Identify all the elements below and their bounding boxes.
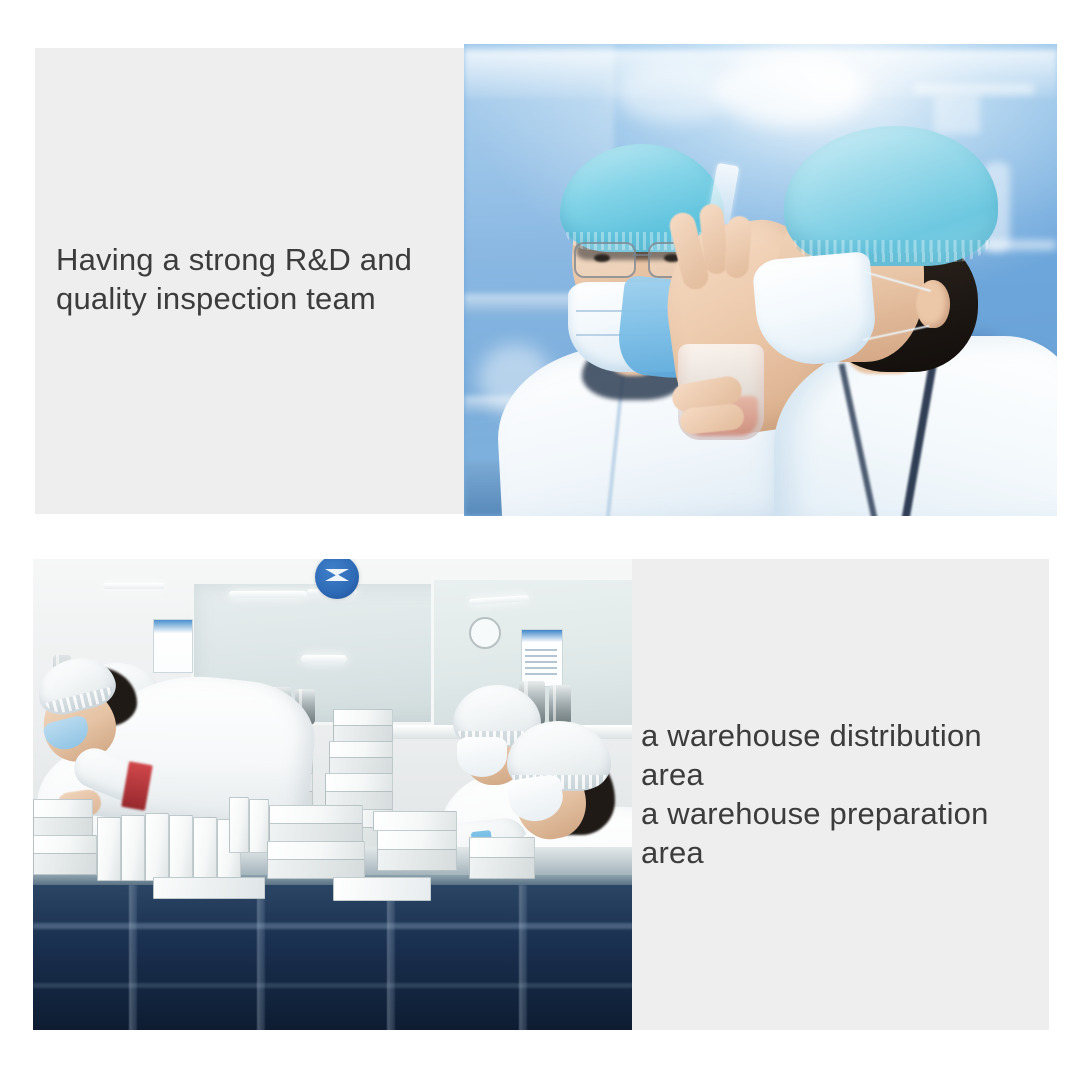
table-leg-3 <box>387 885 395 1030</box>
ceiling-light-5 <box>103 583 165 589</box>
table-rail-1 <box>33 923 632 929</box>
carton-flat-stack-8 <box>469 837 535 859</box>
carton-left-stack-3 <box>33 835 97 855</box>
carton-edge-front-2 <box>153 877 265 899</box>
carton-flat-stack-5 <box>377 829 457 851</box>
stainless-table-underframe <box>33 885 632 1030</box>
stainless-canister-4 <box>549 685 571 725</box>
wall-clock <box>469 617 501 649</box>
warehouse-packing-photo <box>33 559 632 1030</box>
screenshot-stage: Having a strong R&D and quality inspecti… <box>0 0 1080 1080</box>
lab-shelf-box <box>934 94 980 134</box>
carton-flat-stack-7 <box>373 811 457 831</box>
carton-flat-stack-2 <box>269 823 363 843</box>
carton-flat-stack-6 <box>377 849 457 871</box>
carton-bottle-2 <box>249 799 269 853</box>
carton-left-stack-1 <box>33 799 93 819</box>
carton-flat-stack-1 <box>269 805 363 825</box>
carton-left-stack-4 <box>33 853 97 875</box>
lab-hand-finger-3 <box>724 215 752 279</box>
carton-flat-stack-4 <box>267 859 365 879</box>
lab-shelf-top <box>914 84 1034 94</box>
carton-bottle-1 <box>229 797 249 853</box>
bottom-caption-panel: a warehouse distribution area a warehous… <box>632 559 1049 1030</box>
ceiling-light-4 <box>301 655 347 663</box>
top-caption-panel: Having a strong R&D and quality inspecti… <box>35 48 465 514</box>
carton-front-3 <box>145 813 169 881</box>
lab-worker-front-eye-left <box>594 254 610 262</box>
wall-notice-sign-2 <box>153 619 193 673</box>
carton-flat-stack-3 <box>267 841 365 861</box>
carton-front-2 <box>121 815 145 881</box>
wall-notice-sign-text <box>525 649 557 679</box>
lab-ceiling-light-2 <box>716 54 866 126</box>
top-caption-text: Having a strong R&D and quality inspecti… <box>35 240 412 318</box>
carton-flat-stack-9 <box>469 857 535 879</box>
carton-front-5 <box>193 817 217 881</box>
ceiling-light-1 <box>229 591 307 598</box>
carton-left-stack-2 <box>33 817 93 837</box>
carton-stack-bg-5 <box>325 773 393 793</box>
carton-front-1 <box>97 817 121 881</box>
carton-edge-front-1 <box>333 877 431 901</box>
table-rail-2 <box>33 983 632 988</box>
bottom-caption-text: a warehouse distribution area a warehous… <box>632 716 1049 872</box>
carton-front-4 <box>169 815 193 881</box>
table-leg-1 <box>129 885 137 1030</box>
table-leg-2 <box>257 885 265 1030</box>
lab-quality-inspection-photo <box>464 44 1057 516</box>
table-leg-4 <box>519 885 527 1030</box>
